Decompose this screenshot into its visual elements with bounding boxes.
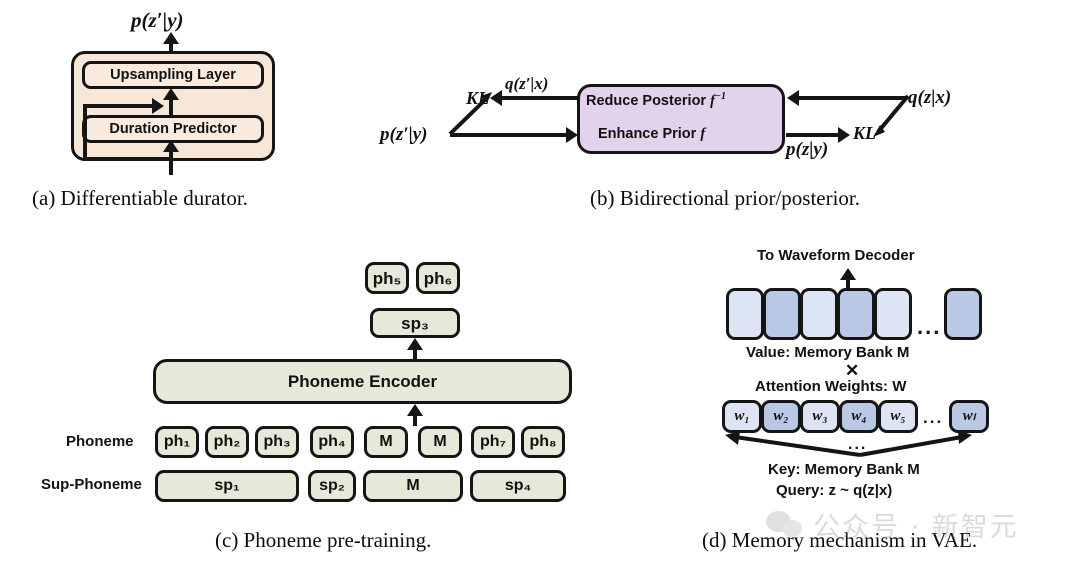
panel-b-right-out-line	[786, 133, 840, 137]
panel-c-phoneme-5-label: M	[433, 434, 446, 450]
panel-c-phoneme-5[interactable]: M	[418, 426, 462, 458]
panel-a-mid-arrowhead	[163, 88, 179, 100]
panel-c-caption: (c) Phoneme pre-training.	[215, 528, 431, 553]
panel-c-phoneme-2-label: ph₃	[264, 434, 291, 450]
panel-c-phoneme-3[interactable]: ph₄	[310, 426, 354, 458]
panel-c-phoneme-6[interactable]: ph₇	[471, 426, 515, 458]
panel-c-sup-phoneme-0-label: sp₁	[214, 478, 239, 494]
panel-c-output-sp3-label: sp₃	[401, 315, 429, 332]
figure-canvas: p(z′|y) Upsampling Layer Duration Predic…	[0, 0, 1080, 567]
panel-b-right-out-arrowhead	[838, 127, 850, 143]
panel-d-weight-ellipsis: ...	[923, 408, 943, 428]
panel-d-memory-block-2[interactable]	[800, 288, 838, 340]
panel-c-output-sp3[interactable]: sp₃	[370, 308, 460, 338]
panel-d-memory-block-4[interactable]	[874, 288, 912, 340]
panel-c-sup-phoneme-1[interactable]: sp₂	[308, 470, 356, 502]
panel-a-skip-left	[83, 104, 87, 161]
panel-d-memory-ellipsis: ...	[917, 314, 941, 340]
panel-b-right-diagonal	[880, 90, 940, 146]
panel-d-memory-block-1[interactable]	[763, 288, 801, 340]
panel-c-output-ph5[interactable]: ph₅	[365, 262, 409, 294]
panel-a-upsampling-layer[interactable]: Upsampling Layer	[82, 61, 264, 89]
panel-c-phoneme-4[interactable]: M	[364, 426, 408, 458]
panel-d-key-label: Key: Memory Bank M	[768, 462, 920, 477]
panel-b-label-pzpy: p(z′|y)	[380, 125, 428, 144]
panel-d-weight-4-label: w₅	[890, 409, 905, 424]
panel-d-weight-1-label: w₂	[773, 409, 788, 424]
panel-b-right-in-arrowhead	[787, 90, 799, 106]
panel-d-weight-2[interactable]: w₃	[800, 400, 840, 433]
panel-c-phoneme-7-label: ph₈	[529, 434, 556, 450]
panel-b-label-pzy: p(z|y)	[786, 140, 828, 159]
panel-a-caption: (a) Differentiable durator.	[32, 186, 248, 211]
panel-d-weight-4[interactable]: w₅	[878, 400, 918, 433]
duration-predictor-label: Duration Predictor	[109, 122, 236, 137]
panel-d-memory-block-0[interactable]	[726, 288, 764, 340]
panel-b-label-qzpx: q(z′|x)	[505, 75, 548, 92]
panel-c-row-label-phoneme: Phoneme	[66, 434, 134, 449]
panel-c-output-ph6-label: ph₆	[424, 270, 453, 287]
panel-d-fanout-ellipsis: ...	[848, 436, 867, 454]
panel-d-top-label: To Waveform Decoder	[757, 248, 915, 263]
panel-c-encoder-in-arrowhead	[407, 404, 423, 416]
upsampling-layer-label: Upsampling Layer	[110, 68, 236, 83]
panel-c-output-ph6[interactable]: ph₆	[416, 262, 460, 294]
panel-d-multiply-icon: ✕	[845, 362, 859, 379]
panel-c-row-label-sup-phoneme: Sup-Phoneme	[41, 477, 142, 492]
panel-a-input-arrowhead	[163, 140, 179, 152]
panel-b-caption: (b) Bidirectional prior/posterior.	[590, 186, 860, 211]
panel-d-memory-block-3[interactable]	[837, 288, 875, 340]
panel-a-mid-line	[169, 98, 173, 115]
panel-a-output-arrowhead	[163, 32, 179, 44]
panel-d-weight-1[interactable]: w₂	[761, 400, 801, 433]
panel-a-duration-predictor[interactable]: Duration Predictor	[82, 115, 264, 143]
panel-c-sup-phoneme-3-label: sp₄	[505, 478, 531, 494]
panel-a-output-label: p(z′|y)	[131, 10, 184, 31]
panel-d-weight-last[interactable]: wₗ	[949, 400, 989, 433]
panel-c-output-ph5-label: ph₅	[373, 270, 402, 287]
panel-c-phoneme-4-label: M	[379, 434, 392, 450]
panel-d-weight-2-label: w₃	[812, 409, 827, 424]
panel-c-phoneme-0-label: ph₁	[164, 434, 190, 450]
phoneme-encoder-label: Phoneme Encoder	[288, 373, 437, 390]
panel-c-sup-phoneme-3[interactable]: sp₄	[470, 470, 566, 502]
panel-c-phoneme-encoder[interactable]: Phoneme Encoder	[153, 359, 572, 404]
panel-c-phoneme-7[interactable]: ph₈	[521, 426, 565, 458]
panel-d-query-label: Query: z ~ q(z|x)	[776, 483, 892, 498]
panel-a-skip-arrowhead	[152, 98, 164, 114]
panel-d-memory-block-last[interactable]	[944, 288, 982, 340]
panel-c-phoneme-0[interactable]: ph₁	[155, 426, 199, 458]
panel-d-attention-label: Attention Weights: W	[755, 379, 906, 394]
panel-c-encoder-out-arrowhead	[407, 338, 423, 350]
enhance-prior-label: Enhance Prior f	[598, 127, 705, 142]
panel-c-sup-phoneme-1-label: sp₂	[319, 478, 345, 494]
panel-c-phoneme-1[interactable]: ph₂	[205, 426, 249, 458]
panel-d-weight-3[interactable]: w₄	[839, 400, 879, 433]
panel-a-skip-top	[83, 104, 153, 108]
panel-d-weight-0-label: w₁	[734, 409, 749, 424]
panel-c-sup-phoneme-2-label: M	[406, 478, 419, 494]
panel-c-phoneme-2[interactable]: ph₃	[255, 426, 299, 458]
panel-d-weight-3-label: w₄	[851, 409, 866, 424]
panel-b-kl-right: KL	[853, 124, 876, 142]
panel-c-phoneme-1-label: ph₂	[214, 434, 241, 450]
panel-c-phoneme-6-label: ph₇	[480, 434, 506, 450]
panel-c-phoneme-3-label: ph₄	[318, 434, 345, 450]
panel-c-sup-phoneme-0[interactable]: sp₁	[155, 470, 299, 502]
panel-d-decoder-arrowhead	[840, 268, 856, 280]
panel-d-caption: (d) Memory mechanism in VAE.	[702, 528, 977, 553]
panel-a-skip-bottom	[83, 157, 171, 161]
panel-d-weight-0[interactable]: w₁	[722, 400, 762, 433]
panel-b-left-diagonal	[440, 84, 500, 140]
panel-d-value-label: Value: Memory Bank M	[746, 345, 909, 360]
panel-c-sup-phoneme-2[interactable]: M	[363, 470, 463, 502]
panel-b-left-in-arrowhead	[566, 127, 578, 143]
panel-d-weight-last-label: wₗ	[963, 409, 976, 424]
panel-b-left-out-line	[500, 96, 578, 100]
reduce-posterior-label: Reduce Posterior f−1	[586, 92, 726, 108]
